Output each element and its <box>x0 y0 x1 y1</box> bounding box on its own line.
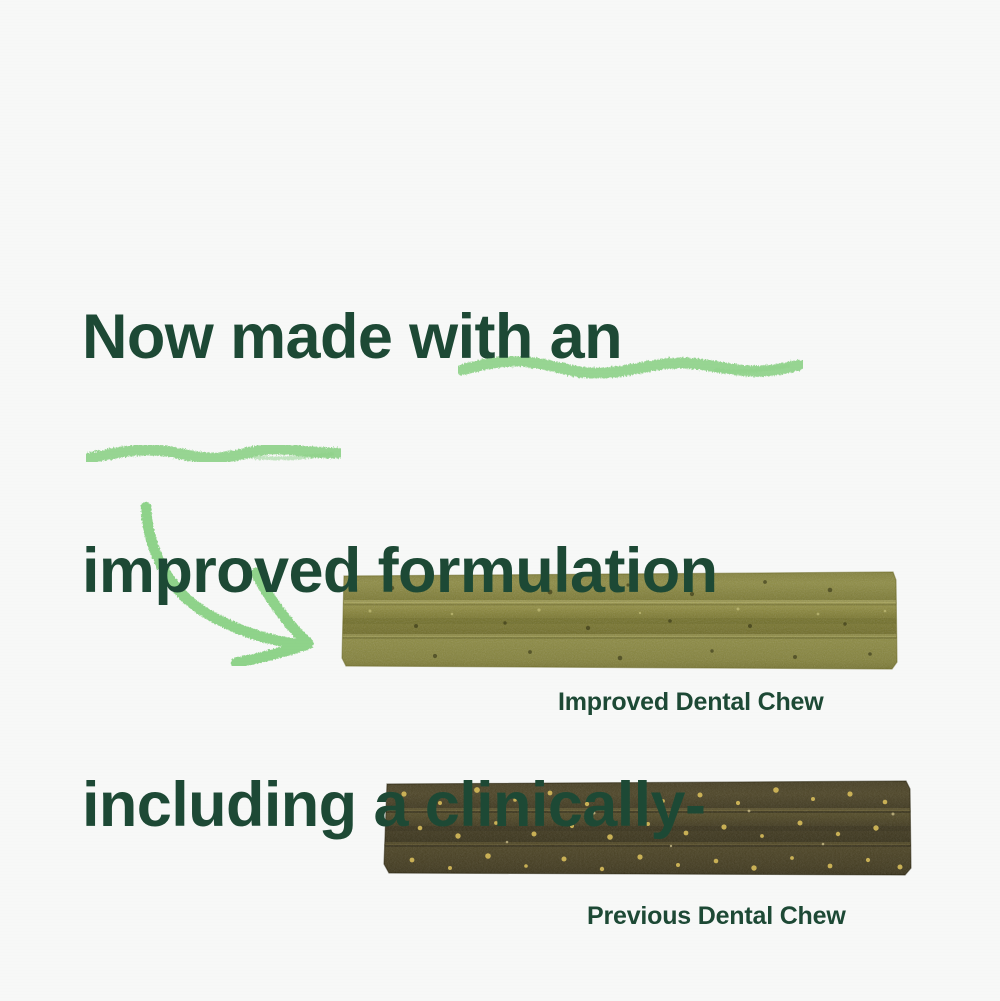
headline-line-1: Now made with an <box>82 298 912 376</box>
headline-line-3: including a clinically- <box>82 766 912 844</box>
poster-canvas: Now made with an improved formulation in… <box>0 0 1000 1001</box>
improved-chew-caption: Improved Dental Chew <box>558 688 824 717</box>
page-title: Now made with an improved formulation in… <box>82 142 912 1001</box>
headline-line-2: improved formulation <box>82 532 912 610</box>
previous-chew-caption: Previous Dental Chew <box>587 902 846 931</box>
